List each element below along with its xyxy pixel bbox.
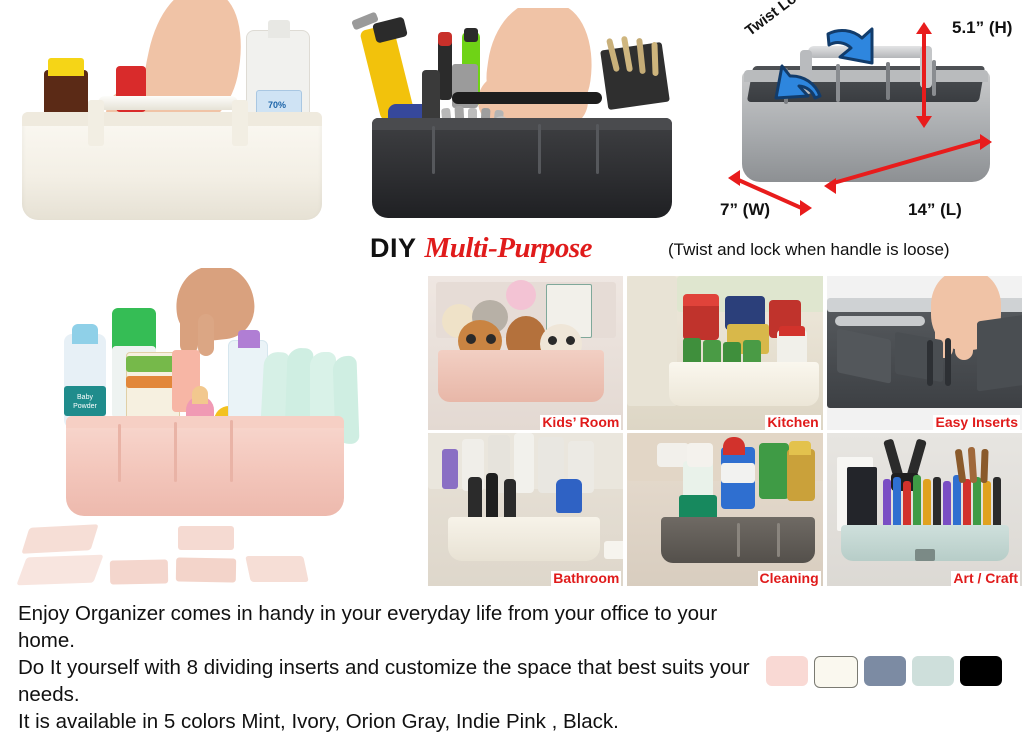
headline: DIY Multi-Purpose <box>370 232 592 266</box>
description-line-2: Do It yourself with 8 dividing inserts a… <box>18 654 778 708</box>
baby-powder-label: Baby Powder <box>66 392 104 413</box>
use-case-cleaning: Cleaning <box>627 433 822 587</box>
dimension-width-label: 7” (W) <box>720 200 770 220</box>
photo-tool-caddy <box>352 8 692 230</box>
caption-kitchen: Kitchen <box>765 415 820 430</box>
twist-lock-note: (Twist and lock when handle is loose) <box>668 240 950 260</box>
use-case-kids-room: Kids’ Room <box>428 276 623 430</box>
caption-cleaning: Cleaning <box>758 571 821 586</box>
headline-multi-purpose: Multi-Purpose <box>425 232 593 265</box>
color-swatches <box>766 656 1002 688</box>
dimension-length-label: 14” (L) <box>908 200 962 220</box>
use-case-kitchen: Kitchen <box>627 276 822 430</box>
use-case-easy-inserts: Easy Inserts <box>827 276 1022 430</box>
divider-insert <box>110 559 168 584</box>
color-swatch-ivory <box>814 656 858 688</box>
color-swatch-indie-pink <box>766 656 808 686</box>
use-case-bathroom: Bathroom <box>428 433 623 587</box>
color-swatch-black <box>960 656 1002 686</box>
color-swatch-orion-gray <box>864 656 906 686</box>
use-case-grid: Kids’ Room Kitchen <box>428 276 1022 586</box>
caption-kids-room: Kids’ Room <box>540 415 621 430</box>
dimension-height-label: 5.1” (H) <box>952 18 1012 38</box>
description-line-1: Enjoy Organizer comes in handy in your e… <box>18 600 778 654</box>
divider-insert <box>178 526 234 550</box>
use-case-art-craft: Art / Craft <box>827 433 1022 587</box>
divider-insert <box>245 556 309 582</box>
twist-lock-arrows-icon <box>758 8 878 120</box>
description-line-3: It is available in 5 colors Mint, Ivory,… <box>18 708 778 735</box>
caption-bathroom: Bathroom <box>551 571 621 586</box>
alcohol-percent-label: 70% <box>258 98 296 112</box>
color-swatch-mint <box>912 656 954 686</box>
divider-insert <box>21 524 98 554</box>
caption-art-craft: Art / Craft <box>951 571 1020 586</box>
product-description: Enjoy Organizer comes in handy in your e… <box>18 600 778 735</box>
photo-health-caddy: Nature's Model 70% BAND-AID BAND-AID <box>0 0 348 232</box>
headline-diy: DIY <box>370 233 417 264</box>
caption-easy-inserts: Easy Inserts <box>933 415 1020 430</box>
divider-insert <box>176 557 236 582</box>
photo-nursery-caddy: Baby Powder <box>0 268 420 598</box>
divider-insert <box>16 555 103 586</box>
